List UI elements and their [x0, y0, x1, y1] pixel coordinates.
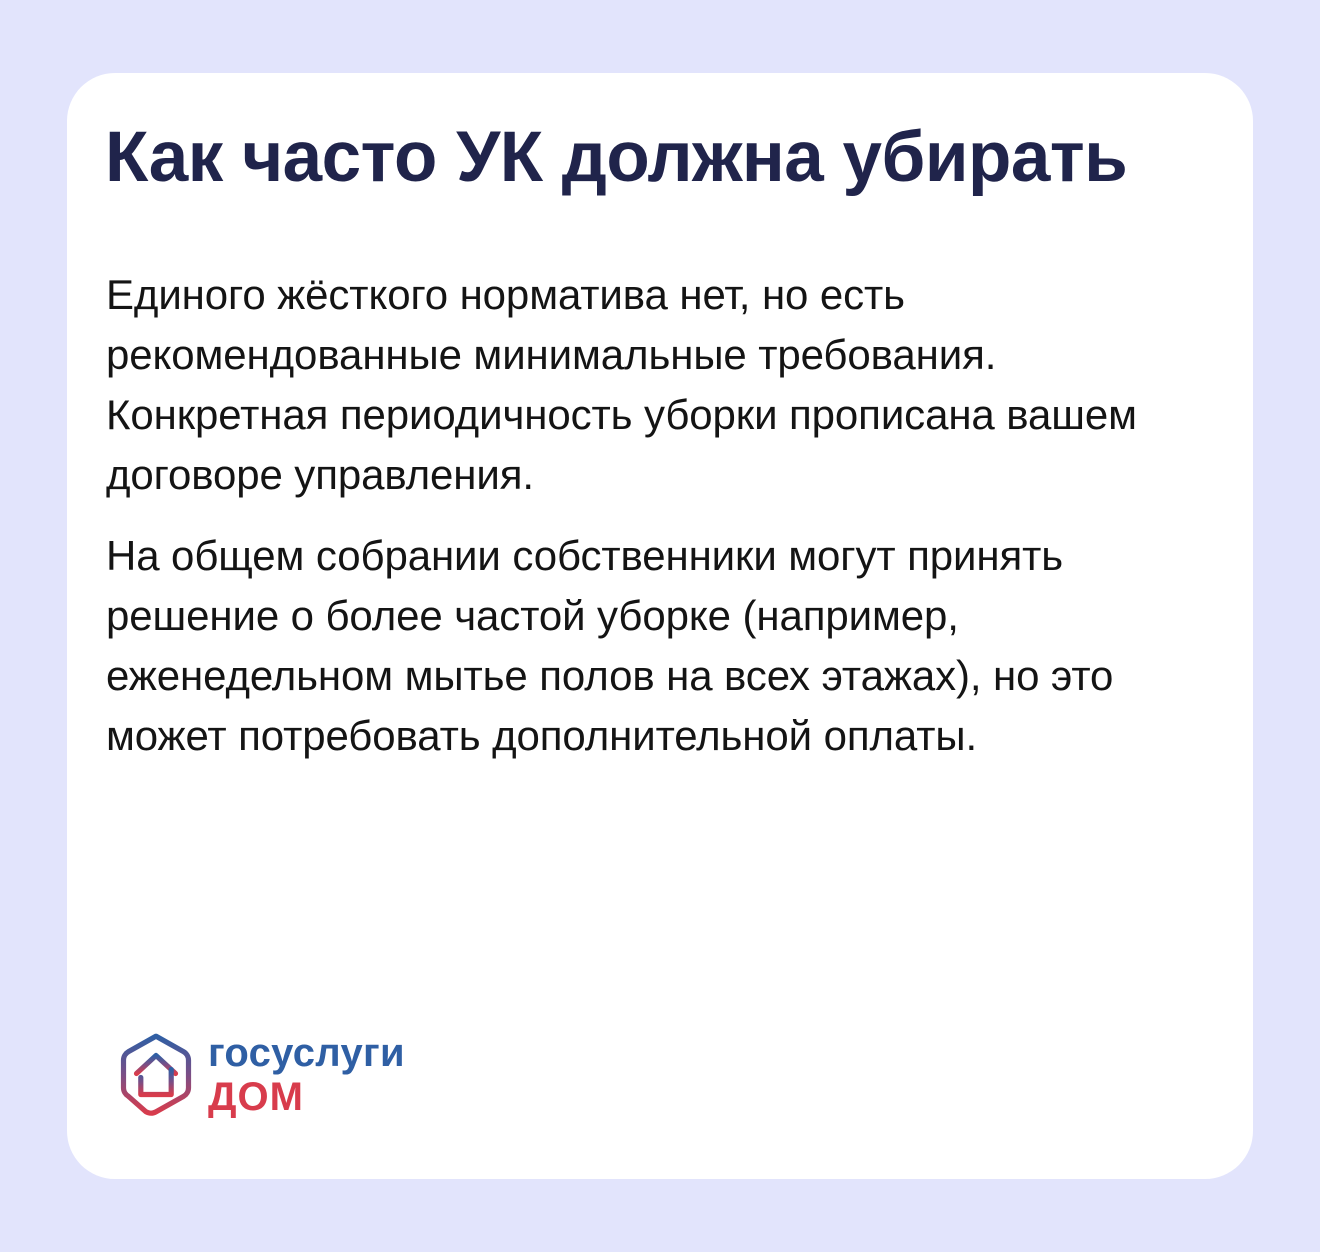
screenshot-canvas: Как часто УК должна убирать Единого жёст… [0, 0, 1320, 1252]
paragraph: На общем собрании собственники могут при… [106, 526, 1176, 766]
brand-word-primary: госуслуги [208, 1035, 405, 1072]
brand-word-secondary: дом [208, 1079, 405, 1116]
card-content: Как часто УК должна убирать Единого жёст… [105, 73, 1215, 1179]
house-in-hexagon-icon [117, 1032, 195, 1116]
page-title: Как часто УК должна убирать [105, 119, 1127, 197]
paragraph: Единого жёсткого норматива нет, но есть … [106, 265, 1176, 505]
body-copy: Единого жёсткого норматива нет, но есть … [106, 265, 1176, 766]
brand-wordmark: госуслуги дом [208, 1035, 405, 1116]
info-card: Как часто УК должна убирать Единого жёст… [67, 73, 1253, 1179]
brand-lockup: госуслуги дом [117, 1032, 405, 1116]
